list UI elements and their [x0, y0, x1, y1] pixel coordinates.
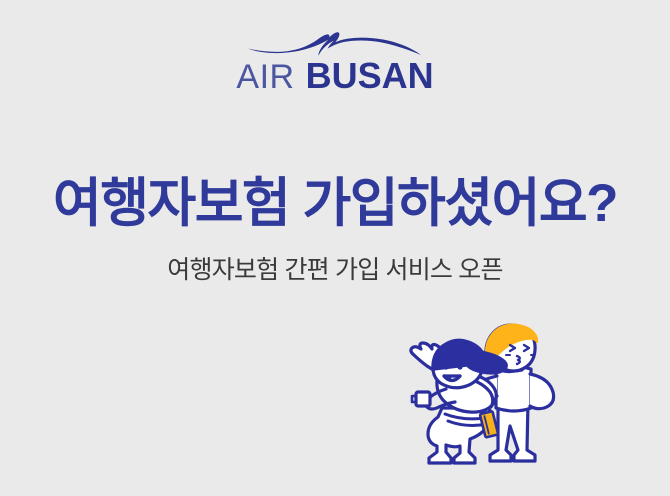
seagull-wing-icon: [246, 30, 424, 56]
logo-wordmark: AIR BUSAN: [236, 58, 433, 94]
logo-busan-text: BUSAN: [306, 58, 434, 94]
promo-banner: AIR BUSAN 여행자보험 가입하셨어요? 여행자보험 간편 가입 서비스 …: [0, 0, 670, 496]
logo-air-text: AIR: [236, 60, 294, 94]
headline: 여행자보험 가입하셨어요?: [0, 177, 670, 230]
two-travelers-illustration: [398, 322, 670, 472]
travelers-svg: [398, 322, 670, 472]
subtitle: 여행자보험 간편 가입 서비스 오픈: [0, 255, 670, 285]
air-busan-logo: AIR BUSAN: [0, 30, 670, 100]
capped-character-pointing: [411, 340, 506, 463]
